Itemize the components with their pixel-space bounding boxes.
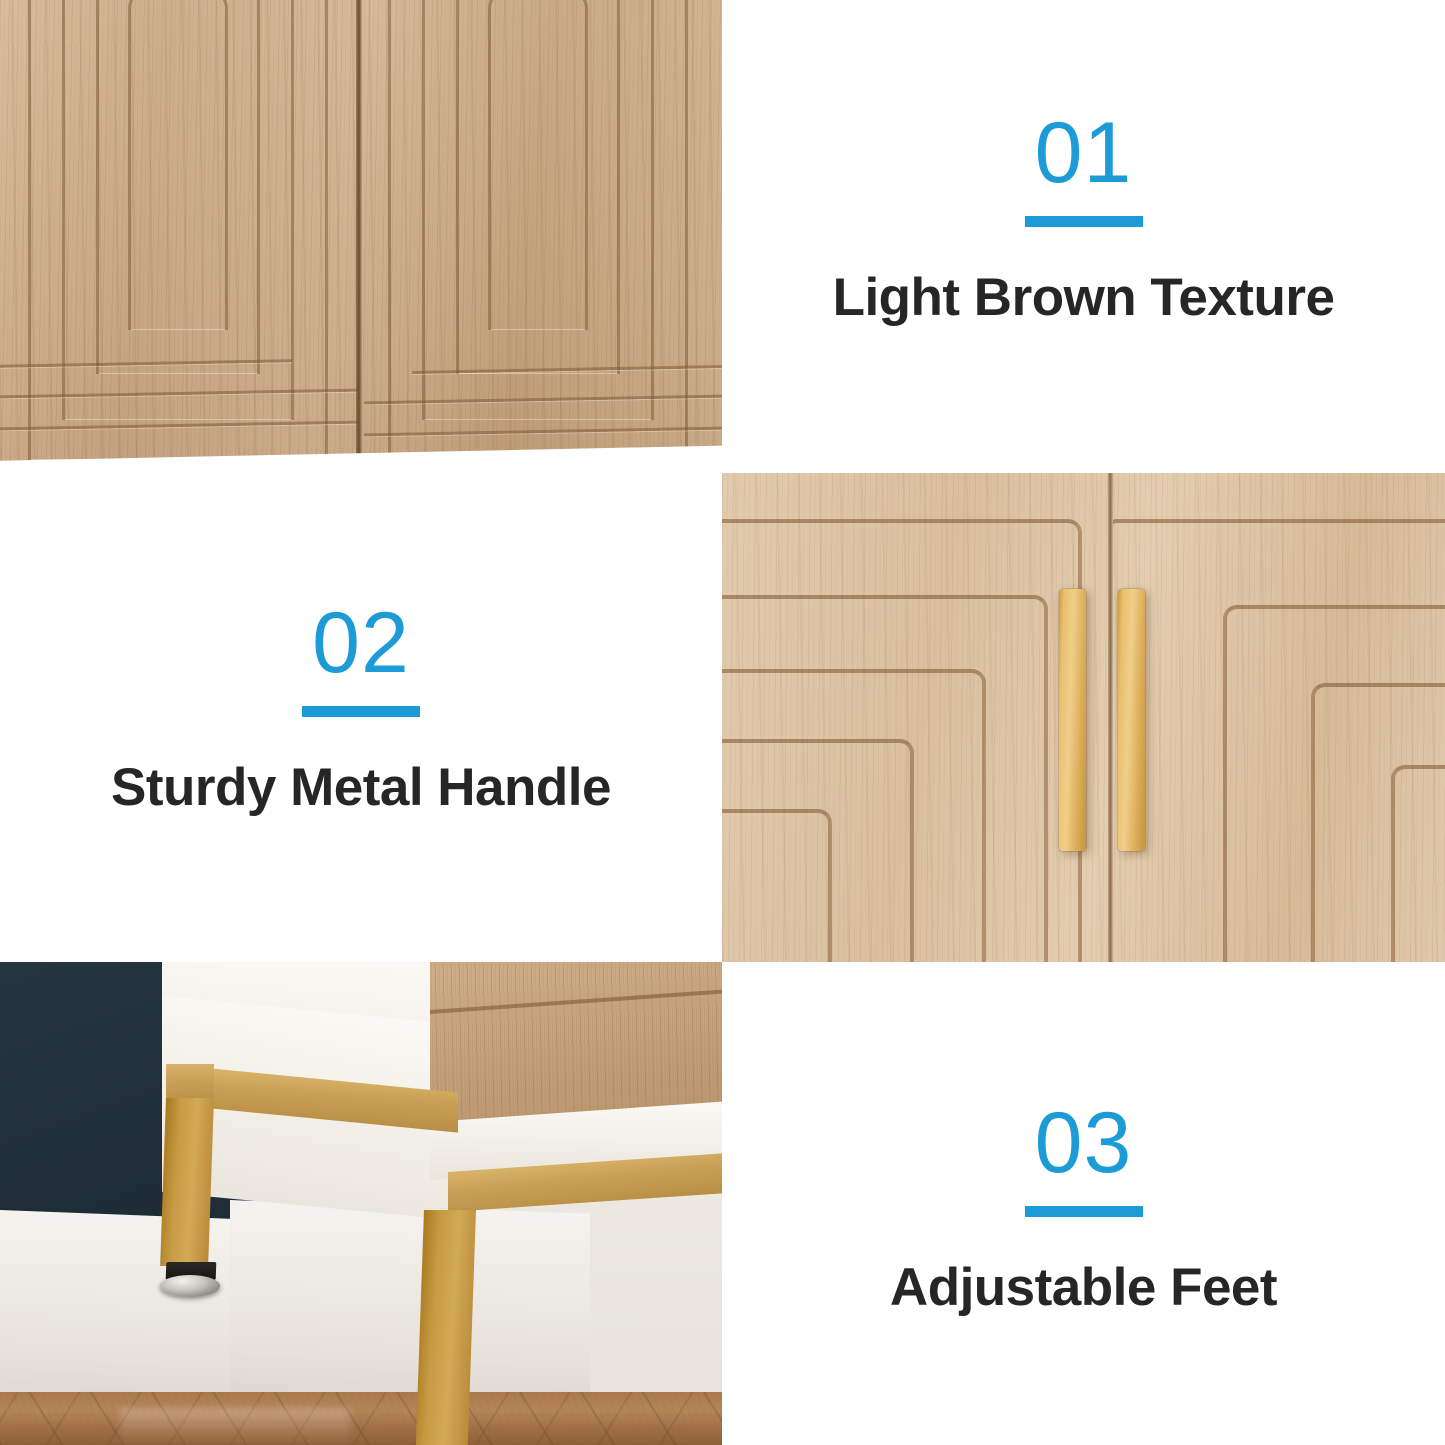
adjustable-foot-back [160, 1275, 220, 1297]
cabinet-door-right [364, 0, 722, 473]
cabinet-door-left [722, 473, 1110, 962]
feature-caption-03: Adjustable Feet [890, 1257, 1277, 1318]
cabinet-leg-front [416, 1210, 476, 1445]
groove-ring-4 [488, 0, 588, 330]
floor-reflection-left [120, 1408, 350, 1445]
feature-caption-02: Sturdy Metal Handle [111, 757, 611, 818]
door-gap-divider [356, 0, 362, 473]
feature-number-underline-01 [1025, 216, 1143, 227]
groove-step-4 [1391, 765, 1445, 962]
groove-step-5 [722, 809, 832, 962]
herringbone-floor [0, 1392, 722, 1445]
feature-image-light-brown-texture [0, 0, 722, 473]
feature-infographic: 01 Light Brown Texture 02 Sturdy Metal H… [0, 0, 1445, 1445]
feature-block-03: 03 Adjustable Feet [722, 1100, 1445, 1318]
metal-handle-right [1118, 589, 1145, 851]
feature-caption-01: Light Brown Texture [833, 267, 1335, 328]
metal-handle-left [1059, 589, 1086, 851]
feature-block-02: 02 Sturdy Metal Handle [0, 600, 722, 818]
feature-number-underline-02 [302, 706, 420, 717]
cabinet-door-left [0, 0, 358, 473]
cabinet-door-right [1113, 473, 1445, 962]
feature-number-03: 03 [1035, 1100, 1133, 1192]
feature-block-01: 01 Light Brown Texture [722, 110, 1445, 328]
feature-number-02: 02 [312, 600, 410, 692]
cabinet-leg-back [160, 1098, 214, 1266]
feature-image-adjustable-feet [0, 962, 722, 1445]
feature-image-sturdy-metal-handle [722, 473, 1445, 962]
groove-ring-4 [128, 0, 228, 330]
feature-number-underline-03 [1025, 1206, 1143, 1217]
feature-number-01: 01 [1035, 110, 1133, 202]
